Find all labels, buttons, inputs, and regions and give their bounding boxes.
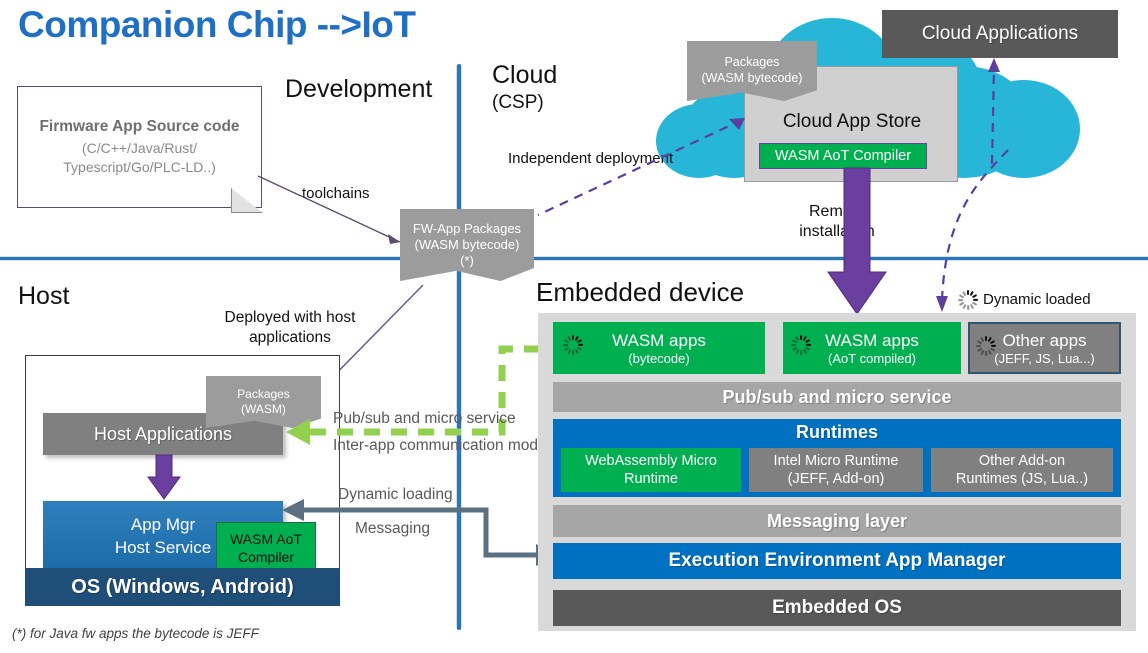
footnote: (*) for Java fw apps the bytecode is JEF…: [12, 626, 259, 641]
embedded-runtime-intel[interactable]: Intel Micro Runtime (JEFF, Add-on): [749, 448, 923, 492]
spinner-icon: [791, 335, 811, 355]
app-name: WASM apps: [825, 331, 919, 351]
host-os-label: OS (Windows, Android): [71, 576, 293, 599]
embedded-app-wasm-aot[interactable]: WASM apps (AoT compiled): [783, 322, 961, 374]
app-name: Other apps: [1002, 331, 1086, 351]
embedded-pubsub-layer[interactable]: Pub/sub and micro service: [553, 382, 1121, 412]
embedded-os[interactable]: Embedded OS: [553, 590, 1121, 626]
embedded-runtime-wamr[interactable]: WebAssembly Micro Runtime: [561, 448, 741, 492]
embedded-app-manager-label: Execution Environment App Manager: [668, 550, 1005, 572]
remote-installation-arrow: [826, 168, 888, 316]
embedded-runtimes-title: Runtimes: [553, 422, 1121, 443]
section-heading-cloud: Cloud: [492, 62, 557, 88]
pubsub-green-arrow: [280, 335, 580, 445]
section-heading-development: Development: [285, 76, 432, 102]
embedded-pubsub-label: Pub/sub and micro service: [722, 387, 951, 408]
embedded-runtimes-block: Runtimes WebAssembly Micro Runtime Intel…: [553, 419, 1121, 497]
section-heading-host: Host: [18, 283, 69, 309]
spinner-icon: [976, 336, 996, 356]
app-mgr-line1: App Mgr: [131, 514, 195, 537]
toolchains-arrow: [250, 170, 420, 260]
app-sub: (JEFF, JS, Lua...): [994, 351, 1094, 366]
embedded-app-manager[interactable]: Execution Environment App Manager: [553, 543, 1121, 579]
messaging-label: Messaging: [355, 520, 430, 538]
independent-deployment-arrow: [530, 110, 755, 225]
embedded-app-other[interactable]: Other apps (JEFF, JS, Lua...): [968, 322, 1121, 374]
app-sub: (bytecode): [628, 351, 689, 366]
page-title: Companion Chip -->IoT: [18, 2, 658, 48]
dynamic-loading-label: Dynamic loading: [338, 486, 453, 504]
runtime-line2: Runtimes (JS, Lua..): [956, 470, 1088, 488]
fw-packages-line2: (WASM bytecode): [413, 237, 521, 253]
embedded-os-label: Embedded OS: [772, 597, 902, 619]
embedded-runtime-other[interactable]: Other Add-on Runtimes (JS, Lua..): [931, 448, 1113, 492]
firmware-source-box[interactable]: Firmware App Source code (C/C++/Java/Rus…: [17, 86, 262, 208]
section-heading-embedded: Embedded device: [536, 279, 744, 306]
fw-packages-line3: (*): [413, 253, 521, 269]
host-os-box[interactable]: OS (Windows, Android): [25, 568, 340, 606]
app-mgr-line2: Host Service: [115, 537, 211, 560]
embedded-messaging-label: Messaging layer: [767, 511, 907, 532]
slide-canvas: Companion Chip -->IoT Development Cloud …: [0, 0, 1148, 653]
runtime-line1: WebAssembly Micro: [585, 452, 717, 470]
firmware-source-title: Firmware App Source code: [39, 118, 239, 136]
cloud-packages-callout: Packages (WASM bytecode): [687, 41, 817, 101]
runtime-line2: (JEFF, Add-on): [788, 470, 885, 488]
cloud-applications-label: Cloud Applications: [922, 23, 1078, 45]
cloud-packages-line1: Packages: [702, 55, 803, 71]
embedded-messaging-layer[interactable]: Messaging layer: [553, 505, 1121, 537]
embedded-app-wasm-bytecode[interactable]: WASM apps (bytecode): [553, 322, 765, 374]
cloud-applications-box[interactable]: Cloud Applications: [882, 10, 1118, 58]
firmware-source-line3: Typescript/Go/PLC-LD..): [63, 158, 216, 177]
host-internal-arrow: [148, 455, 182, 501]
pubsub-label: Pub/sub and micro service: [333, 410, 516, 428]
cloud-wasm-aot-compiler-label: WASM AoT Compiler: [775, 148, 911, 164]
cloud-app-store-title: Cloud App Store: [745, 111, 959, 133]
fw-packages-line1: FW-App Packages: [413, 221, 521, 237]
host-packages-line1: Packages: [237, 387, 290, 402]
host-packages-line2: (WASM): [237, 402, 290, 417]
firmware-source-line2: (C/C++/Java/Rust/: [63, 139, 216, 158]
runtime-line2: Runtime: [624, 470, 678, 488]
spinner-icon: [563, 335, 583, 355]
runtime-line1: Intel Micro Runtime: [774, 452, 899, 470]
dynamic-loaded-label: Dynamic loaded: [983, 291, 1091, 308]
fw-app-packages-callout[interactable]: FW-App Packages (WASM bytecode) (*): [400, 209, 534, 281]
app-name: WASM apps: [612, 331, 706, 351]
cloud-packages-line2: (WASM bytecode): [702, 71, 803, 87]
interapp-label: Inter-app communication models: [333, 437, 558, 455]
app-sub: (AoT compiled): [828, 351, 916, 366]
spinner-icon-legend: [958, 290, 978, 310]
runtime-line1: Other Add-on: [979, 452, 1065, 470]
